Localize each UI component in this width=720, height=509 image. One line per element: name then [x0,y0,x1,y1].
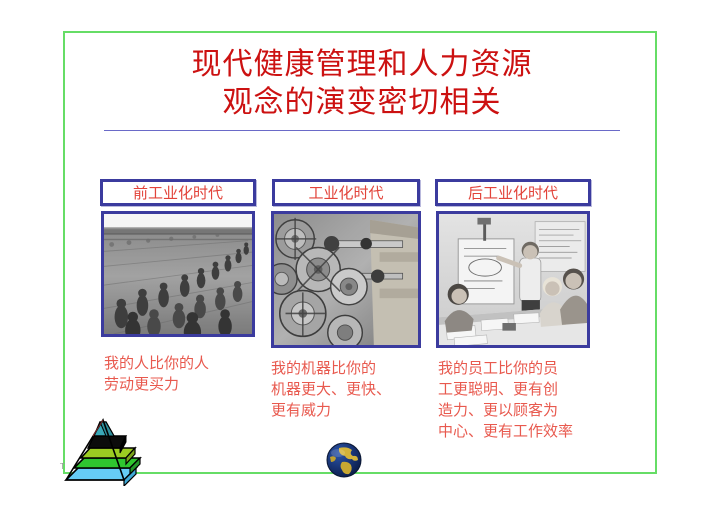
column-header-industrial: 工业化时代 [272,179,420,206]
column-header-label: 工业化时代 [308,185,383,201]
title-divider [104,130,620,131]
column-header-label: 前工业化时代 [133,185,223,201]
slide-canvas: 现代健康管理和人力资源 观念的演变密切相关 前工业化时代 [0,0,720,509]
page-title: 现代健康管理和人力资源 观念的演变密切相关 [104,46,620,122]
pre-industrial-field-workers-photo [101,211,255,337]
column-header-post-industrial: 后工业化时代 [435,179,591,206]
column-header-label: 后工业化时代 [468,185,558,201]
globe-icon [325,441,363,479]
column-header-pre-industrial: 前工业化时代 [100,179,256,206]
page-marker-artifact: T [60,462,65,471]
layered-pyramid-icon [62,418,154,486]
post-industrial-office-meeting-photo [436,211,590,348]
industrial-machinery-gears-photo [271,211,421,348]
column-caption-post-industrial: 我的员工比你的员 工更聪明、更有创 造力、更以顾客为 中心、更有工作效率 [438,358,633,442]
column-caption-industrial: 我的机器比你的 机器更大、更快、 更有威力 [271,358,436,421]
column-caption-pre-industrial: 我的人比你的人 劳动更买力 [104,353,269,395]
